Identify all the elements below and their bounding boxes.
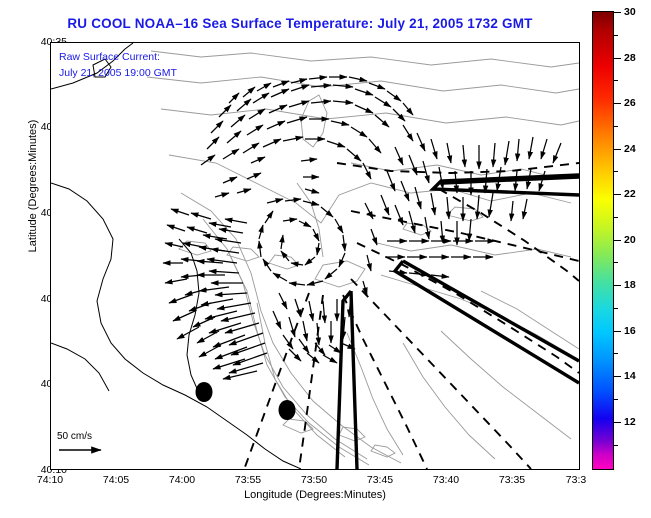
station-marker (196, 382, 213, 402)
station-marker (279, 400, 296, 420)
colorbar-tick (614, 12, 621, 13)
colorbar-minor-tick (614, 445, 618, 446)
map-canvas (51, 43, 579, 469)
colorbar-tick (614, 149, 621, 150)
colorbar-tick (614, 194, 621, 195)
colorbar-tick-label: 22 (624, 188, 636, 200)
x-tick-label: 73:45 (348, 474, 412, 486)
colorbar-tick (614, 376, 621, 377)
colorbar-tick-label: 26 (624, 97, 636, 109)
x-tick-label: 74:05 (84, 474, 148, 486)
x-tick-label: 73:3 (544, 474, 608, 486)
colorbar-minor-tick (614, 308, 618, 309)
colorbar-tick (614, 58, 621, 59)
colorbar-tick (614, 285, 621, 286)
colorbar-minor-tick (614, 80, 618, 81)
scale-key-arrow (57, 443, 113, 455)
scale-key-label: 50 cm/s (57, 431, 143, 442)
radial-tracks-dashed (245, 163, 579, 469)
y-axis-label: Latitude (Degrees:Minutes) (27, 101, 39, 271)
x-tick-label: 73:50 (282, 474, 346, 486)
x-tick-label: 74:00 (150, 474, 214, 486)
colorbar[interactable] (592, 11, 614, 470)
colorbar-tick (614, 103, 621, 104)
x-axis-label: Longitude (Degrees:Minutes) (50, 489, 580, 501)
colorbar-tick-label: 12 (624, 416, 636, 428)
colorbar-tick-label: 14 (624, 370, 636, 382)
figure-title: RU COOL NOAA–16 Sea Surface Temperature:… (0, 16, 600, 31)
colorbar-tick-label: 28 (624, 52, 636, 64)
colorbar-minor-tick (614, 353, 618, 354)
colorbar-minor-tick (614, 399, 618, 400)
x-tick-label: 73:55 (216, 474, 280, 486)
shipping-lanes-solid (337, 175, 579, 469)
colorbar-minor-tick (614, 217, 618, 218)
right-arrow-icon (57, 444, 113, 456)
annotation-line-1: Raw Surface Current: (59, 49, 177, 65)
x-tick-label: 74:10 (18, 474, 82, 486)
colorbar-minor-tick (614, 126, 618, 127)
colorbar-tick-label: 16 (624, 325, 636, 337)
colorbar-minor-tick (614, 262, 618, 263)
surface-current-vectors (163, 77, 561, 379)
annotation-line-2: July 21, 2005 19:00 GMT (59, 65, 177, 81)
colorbar-tick (614, 422, 621, 423)
scale-key: 50 cm/s (57, 431, 143, 455)
bathymetry-contours (147, 51, 579, 465)
current-annotation: Raw Surface Current: July 21, 2005 19:00… (59, 49, 177, 81)
colorbar-minor-tick (614, 35, 618, 36)
colorbar-tick (614, 331, 621, 332)
colorbar-tick-label: 18 (624, 279, 636, 291)
colorbar-minor-tick (614, 171, 618, 172)
coastline (51, 43, 301, 469)
colorbar-tick-label: 30 (624, 6, 636, 18)
x-tick-label: 73:40 (414, 474, 478, 486)
colorbar-tick (614, 240, 621, 241)
x-tick-label: 73:35 (480, 474, 544, 486)
colorbar-tick-label: 20 (624, 234, 636, 246)
map-plot-area[interactable]: Raw Surface Current: July 21, 2005 19:00… (50, 42, 580, 470)
sst-figure: RU COOL NOAA–16 Sea Surface Temperature:… (0, 0, 651, 518)
colorbar-tick-label: 24 (624, 143, 636, 155)
